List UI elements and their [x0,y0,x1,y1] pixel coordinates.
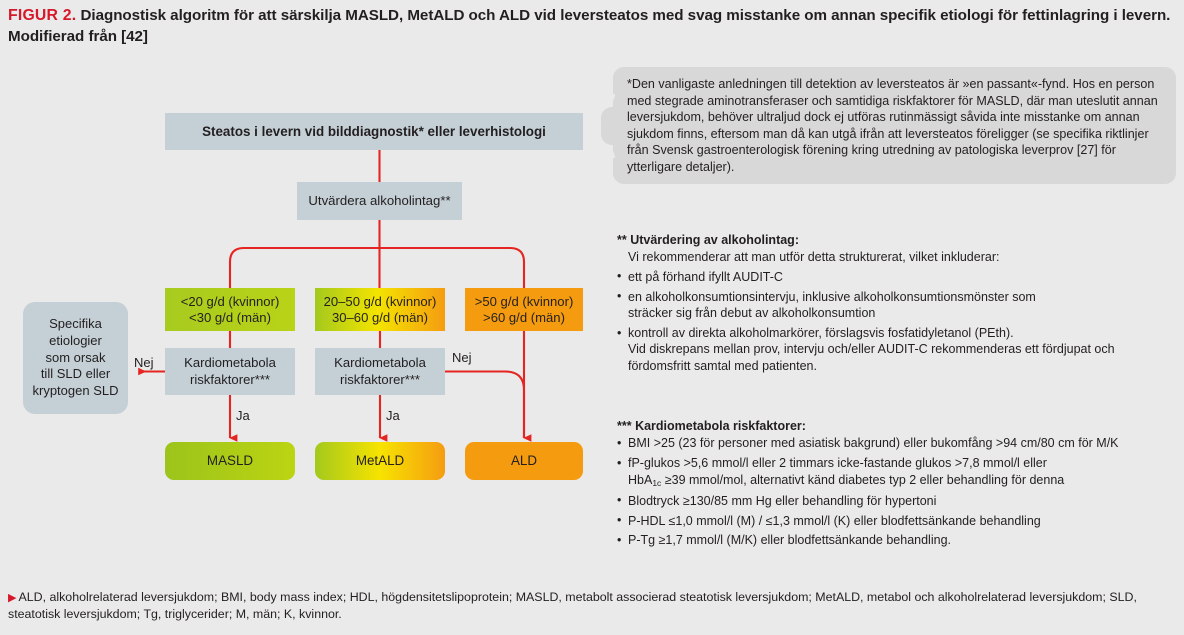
risk-mid-line-1: Kardiometabola [334,355,426,371]
node-dose-mid: 20–50 g/d (kvinnor) 30–60 g/d (män) [315,288,445,331]
evaluation-bullet-3: kontroll av direkta alkoholmarkörer, för… [628,326,1014,340]
evaluation-bullet-1: ett på förhand ifyllt AUDIT-C [628,270,783,284]
node-specific-etiologies: Specifika etiologier som orsak till SLD … [23,302,128,414]
specifika-line-5: kryptogen SLD [33,383,119,400]
node-result-masld: MASLD [165,442,295,480]
node-risk-factors-left: Kardiometabola riskfaktorer*** [165,348,295,395]
page-title: Diagnostisk algoritm för att särskilja M… [8,7,1170,45]
evaluation-bullet-2: en alkoholkonsumtionsintervju, inklusive… [628,290,1036,304]
specifika-line-3: som orsak [33,350,119,367]
edge-label-nej-left: Nej [134,355,154,370]
risk-mid-line-2: riskfaktorer*** [334,372,426,388]
risk-left-line-2: riskfaktorer*** [184,372,276,388]
node-result-metald: MetALD [315,442,445,480]
edge-label-ja-mid: Ja [386,408,400,423]
list-item: fP-glukos >5,6 mmol/l eller 2 timmars ic… [617,455,1179,489]
edge-label-nej-right: Nej [452,350,472,365]
risk-bullet-2-cont: HbA1c ≥39 mmol/mol, alternativt känd dia… [628,472,1179,489]
dose-low-men: <30 g/d (män) [181,310,280,326]
risk-bullet-3: Blodtryck ≥130/85 mm Hg eller behandling… [628,494,936,508]
risk-bullet-4: P-HDL ≤1,0 mmol/l (M) / ≤1,3 mmol/l (K) … [628,514,1041,528]
evaluation-bullet-3-cont: Vid diskrepans mellan prov, intervju och… [628,341,1179,374]
list-item: kontroll av direkta alkoholmarkörer, för… [617,325,1179,374]
edge-label-ja-left: Ja [236,408,250,423]
node-risk-factors-mid: Kardiometabola riskfaktorer*** [315,348,445,395]
section-risk-heading: *** Kardiometabola riskfaktorer: [617,418,1179,434]
section-evaluation-heading: ** Utvärdering av alkoholintag: [617,232,1179,248]
dose-mid-men: 30–60 g/d (män) [324,310,437,326]
figure-number-label: FIGUR 2. [8,7,76,24]
node-result-ald: ALD [465,442,583,480]
list-item: BMI >25 (23 för personer med asiatisk ba… [617,435,1179,451]
section-alcohol-evaluation: ** Utvärdering av alkoholintag: Vi rekom… [617,232,1179,378]
node-dose-high: >50 g/d (kvinnor) >60 g/d (män) [465,288,583,331]
section-cardiometabolic-risk: *** Kardiometabola riskfaktorer: BMI >25… [617,418,1179,552]
hba1c-suffix: ≥39 mmol/mol, alternativt känd diabetes … [661,473,1064,487]
callout-tail [601,107,615,145]
evaluation-bullet-2-cont: sträcker sig från debut av alkoholkonsum… [628,305,1179,321]
node-evaluate-alcohol: Utvärdera alkoholintag** [297,182,462,220]
dose-high-men: >60 g/d (män) [475,310,574,326]
list-item: Blodtryck ≥130/85 mm Hg eller behandling… [617,493,1179,509]
risk-left-line-1: Kardiometabola [184,355,276,371]
risk-bullet-2: fP-glukos >5,6 mmol/l eller 2 timmars ic… [628,456,1047,470]
specifika-line-2: etiologier [33,333,119,350]
footnote-callout: *Den vanligaste anledningen till detekti… [613,67,1176,184]
specifika-line-4: till SLD eller [33,366,119,383]
node-dose-low: <20 g/d (kvinnor) <30 g/d (män) [165,288,295,331]
risk-bullet-5: P-Tg ≥1,7 mmol/l (M/K) eller blodfettsän… [628,533,951,547]
dose-low-women: <20 g/d (kvinnor) [181,294,280,310]
callout-text: *Den vanligaste anledningen till detekti… [627,77,1158,174]
dose-mid-women: 20–50 g/d (kvinnor) [324,294,437,310]
section-evaluation-subheading: Vi rekommenderar att man utför detta str… [617,249,1179,265]
figure-title-block: FIGUR 2. Diagnostisk algoritm för att sä… [8,6,1176,47]
triangle-marker-icon: ▶ [8,592,16,604]
abbreviations-footer: ▶ALD, alkoholrelaterad leversjukdom; BMI… [8,589,1176,623]
hba1c-prefix: HbA [628,473,652,487]
abbreviations-text: ALD, alkoholrelaterad leversjukdom; BMI,… [8,590,1137,621]
list-item: ett på förhand ifyllt AUDIT-C [617,269,1179,285]
list-item: P-Tg ≥1,7 mmol/l (M/K) eller blodfettsän… [617,532,1179,548]
diagnostic-flowchart: Steatos i levern vid bilddiagnostik* ell… [0,60,610,520]
specifika-line-1: Specifika [33,316,119,333]
figure-page: FIGUR 2. Diagnostisk algoritm för att sä… [0,0,1184,635]
list-item: en alkoholkonsumtionsintervju, inklusive… [617,289,1179,322]
list-item: P-HDL ≤1,0 mmol/l (M) / ≤1,3 mmol/l (K) … [617,513,1179,529]
dose-high-women: >50 g/d (kvinnor) [475,294,574,310]
node-steatos-liver: Steatos i levern vid bilddiagnostik* ell… [165,113,583,150]
risk-bullet-1: BMI >25 (23 för personer med asiatisk ba… [628,436,1119,450]
hba1c-subscript: 1c [652,478,661,488]
